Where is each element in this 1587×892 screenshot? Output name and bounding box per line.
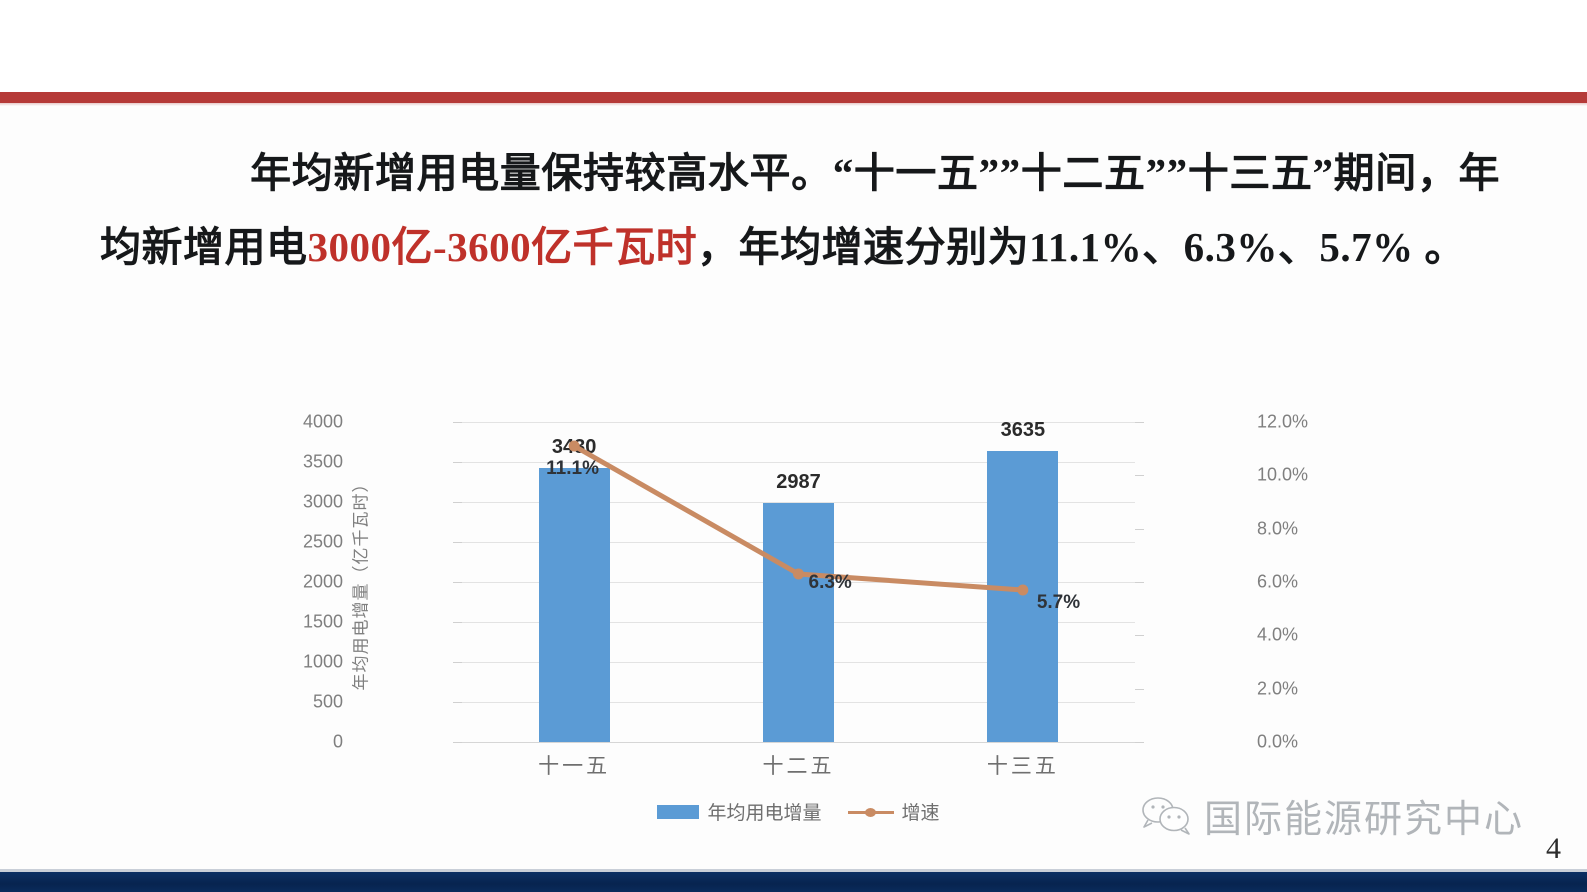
line-value-label: 6.3% bbox=[809, 572, 852, 594]
x-axis-tick-label: 十三五 bbox=[933, 750, 1113, 780]
x-axis-tick-label: 十一五 bbox=[484, 750, 664, 780]
watermark: 国际能源研究中心 bbox=[1140, 788, 1524, 843]
trend-line bbox=[574, 446, 1023, 590]
y2-axis-tickmark bbox=[1135, 422, 1144, 423]
y-axis-tickmark bbox=[453, 542, 462, 543]
y-axis-tick-label: 2000 bbox=[273, 572, 343, 593]
y2-axis-tick-label: 2.0% bbox=[1257, 678, 1347, 699]
legend-line-label: 增速 bbox=[902, 798, 940, 825]
y2-axis-tickmark bbox=[1135, 582, 1144, 583]
bottom-accent-rule bbox=[0, 872, 1587, 892]
y-axis-tickmark bbox=[453, 502, 462, 503]
chart-legend: 年均用电增量 增速 bbox=[462, 798, 1135, 825]
y-axis-tickmark bbox=[453, 662, 462, 663]
plot-area: 050010001500200025003000350040000.0%2.0%… bbox=[462, 422, 1135, 742]
x-axis-tick-label: 十二五 bbox=[709, 750, 889, 780]
legend-line-swatch bbox=[848, 805, 894, 819]
y2-axis-tickmark bbox=[1135, 529, 1144, 530]
y-axis-title-text: 年均用电增量（亿千瓦时） bbox=[347, 474, 372, 690]
heading-line-1: 年均新增用电量保持较高水平。“十一五””十二五””十 bbox=[250, 150, 1229, 196]
combo-chart: 年均用电增量（亿千瓦时） 050010001500200025003000350… bbox=[350, 398, 1230, 838]
y-axis-tickmark bbox=[453, 582, 462, 583]
legend-bar-swatch bbox=[657, 805, 699, 819]
legend-item-bar: 年均用电增量 bbox=[657, 798, 821, 825]
y-axis-tickmark bbox=[453, 622, 462, 623]
y-axis-tick-label: 3500 bbox=[273, 452, 343, 473]
heading-line-3: 为11.1%、6.3%、5.7% 。 bbox=[988, 224, 1466, 270]
line-value-label: 11.1% bbox=[546, 458, 599, 480]
y2-axis-tick-label: 8.0% bbox=[1257, 518, 1347, 539]
gridline bbox=[462, 742, 1135, 743]
heading-highlight: 3000亿-3600亿千瓦时 bbox=[308, 224, 698, 270]
trend-line-point bbox=[569, 441, 580, 452]
page-title: 年均新增用电量保持较高水平。“十一五””十二五””十三五”期间，年均新增用电30… bbox=[100, 136, 1500, 284]
watermark-label: 国际能源研究中心 bbox=[1204, 788, 1524, 843]
top-accent-rule bbox=[0, 92, 1587, 103]
y2-axis-tick-label: 6.0% bbox=[1257, 572, 1347, 593]
y2-axis-tickmark bbox=[1135, 689, 1144, 690]
slide-canvas: 年均新增用电量保持较高水平。“十一五””十二五””十三五”期间，年均新增用电30… bbox=[0, 0, 1587, 892]
y2-axis-tickmark bbox=[1135, 475, 1144, 476]
y-axis-tickmark bbox=[453, 702, 462, 703]
y-axis-tick-label: 0 bbox=[273, 732, 343, 753]
y2-axis-tickmark bbox=[1135, 635, 1144, 636]
y-axis-tickmark bbox=[453, 462, 462, 463]
y-axis-title: 年均用电增量（亿千瓦时） bbox=[346, 422, 372, 742]
y2-axis-tick-label: 4.0% bbox=[1257, 625, 1347, 646]
y-axis-tickmark bbox=[453, 422, 462, 423]
heading-line-2-suffix: ，年均增速分别 bbox=[697, 224, 988, 270]
y-axis-tick-label: 3000 bbox=[273, 492, 343, 513]
y-axis-tick-label: 1000 bbox=[273, 652, 343, 673]
y2-axis-tick-label: 12.0% bbox=[1257, 412, 1347, 433]
top-accent-rule-shadow bbox=[0, 103, 1587, 106]
y-axis-tickmark bbox=[453, 742, 462, 743]
y2-axis-tickmark bbox=[1135, 742, 1144, 743]
wechat-icon bbox=[1140, 794, 1192, 838]
y-axis-tick-label: 1500 bbox=[273, 612, 343, 633]
trend-line-point bbox=[793, 569, 804, 580]
y2-axis-tick-label: 0.0% bbox=[1257, 732, 1347, 753]
line-value-label: 5.7% bbox=[1037, 592, 1080, 614]
slide-top-margin bbox=[0, 0, 1587, 92]
y-axis-tick-label: 500 bbox=[273, 692, 343, 713]
trend-line-point bbox=[1017, 585, 1028, 596]
y-axis-tick-label: 2500 bbox=[273, 532, 343, 553]
y-axis-tick-label: 4000 bbox=[273, 412, 343, 433]
page-number: 4 bbox=[1546, 832, 1561, 866]
legend-item-line: 增速 bbox=[848, 798, 940, 825]
y2-axis-tick-label: 10.0% bbox=[1257, 465, 1347, 486]
legend-bar-label: 年均用电增量 bbox=[707, 798, 821, 825]
